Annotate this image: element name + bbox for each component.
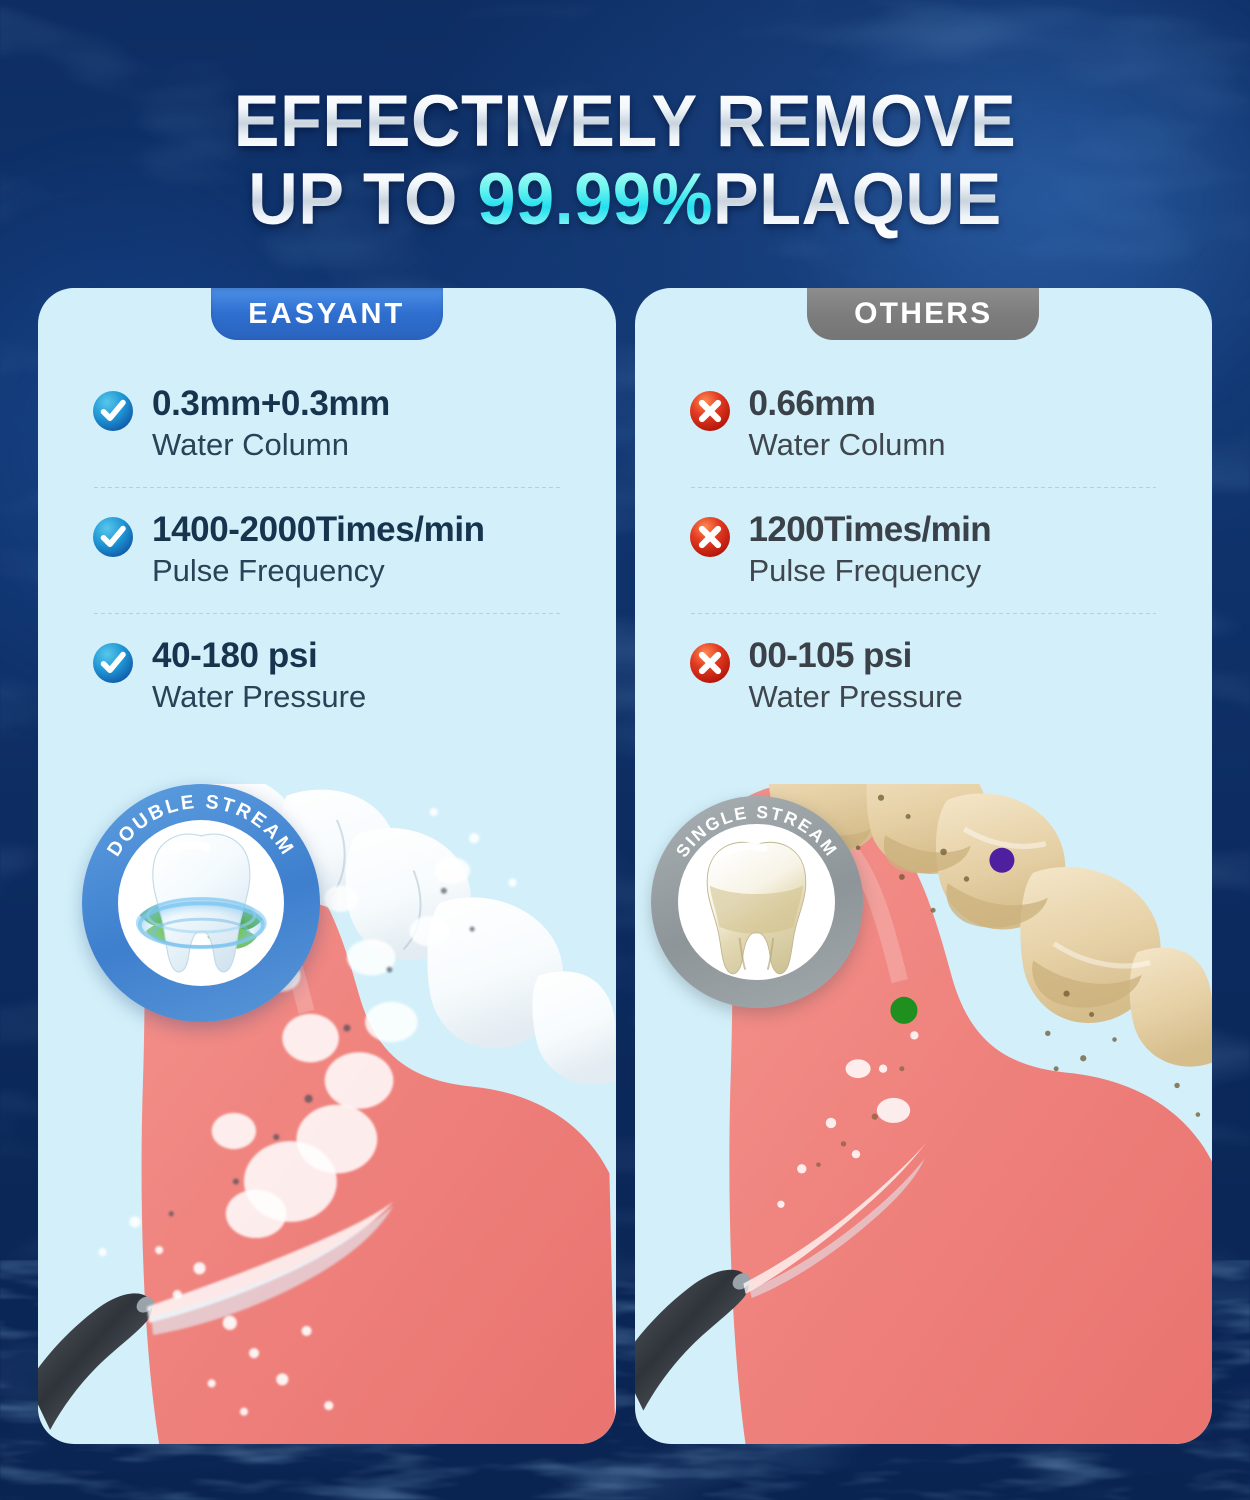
feature-value: 0.66mm — [749, 384, 1179, 424]
headline-percentage: 99.99% — [477, 159, 713, 240]
feature-row: 1400-2000Times/min Pulse Frequency — [72, 500, 582, 597]
feature-row: 40-180 psi Water Pressure — [72, 626, 582, 723]
svg-text:SINGLE STREAM: SINGLE STREAM — [671, 802, 841, 861]
headline-line-2: UP TO 99.99%PLAQUE — [38, 164, 1213, 236]
feature-value: 0.3mm+0.3mm — [152, 384, 582, 424]
feature-separator — [691, 487, 1157, 488]
comparison-card-easyant: EASYANT 0.3mm+0.3mm — [38, 288, 616, 1444]
brand-badge-others: OTHERS — [807, 288, 1039, 340]
feature-row: 00-105 psi Water Pressure — [669, 626, 1179, 723]
svg-text:DOUBLE STREAM: DOUBLE STREAM — [103, 791, 299, 860]
feature-separator — [691, 613, 1157, 614]
feature-row: 0.3mm+0.3mm Water Column — [72, 374, 582, 471]
headline-line-2-prefix: UP TO — [248, 159, 477, 240]
brand-badge-easyant: EASYANT — [211, 288, 443, 340]
emblem-caption-single: SINGLE STREAM — [651, 796, 863, 1008]
irrigator-nozzle — [38, 1293, 157, 1430]
headline-line-2-suffix: PLAQUE — [713, 159, 1002, 240]
emblem-double-stream: DOUBLE STREAM — [82, 784, 320, 1022]
feature-label: Water Pressure — [749, 677, 1179, 717]
check-icon — [92, 516, 134, 558]
comparison-card-others: OTHERS 0.66mm — [635, 288, 1213, 1444]
feature-value: 1200Times/min — [749, 510, 1179, 550]
feature-value: 40-180 psi — [152, 636, 582, 676]
feature-label: Water Column — [749, 425, 1179, 465]
comparison-cards: EASYANT 0.3mm+0.3mm — [38, 288, 1212, 1444]
check-icon — [92, 390, 134, 432]
emblem-caption-double: DOUBLE STREAM — [82, 784, 320, 1022]
cross-icon — [689, 642, 731, 684]
emblem-caption-text: SINGLE STREAM — [671, 802, 841, 861]
feature-value: 1400-2000Times/min — [152, 510, 582, 550]
feature-label: Water Column — [152, 425, 582, 465]
feature-separator — [94, 487, 560, 488]
cross-icon — [689, 516, 731, 558]
cross-icon — [689, 390, 731, 432]
check-icon — [92, 642, 134, 684]
feature-label: Water Pressure — [152, 677, 582, 717]
feature-separator — [94, 613, 560, 614]
feature-row: 1200Times/min Pulse Frequency — [669, 500, 1179, 597]
headline-line-1: EFFECTIVELY REMOVE — [38, 86, 1213, 158]
feature-list-others: 0.66mm Water Column 1200Times/min Pulse … — [635, 374, 1213, 724]
feature-row: 0.66mm Water Column — [669, 374, 1179, 471]
feature-label: Pulse Frequency — [749, 551, 1179, 591]
emblem-caption-text: DOUBLE STREAM — [103, 791, 299, 860]
brand-badge-label: OTHERS — [854, 297, 992, 331]
feature-list-easyant: 0.3mm+0.3mm Water Column 1400-2000Times/… — [38, 374, 616, 724]
feature-value: 00-105 psi — [749, 636, 1179, 676]
brand-badge-label: EASYANT — [248, 298, 405, 331]
emblem-single-stream: SINGLE STREAM — [651, 796, 863, 1008]
feature-label: Pulse Frequency — [152, 551, 582, 591]
headline: EFFECTIVELY REMOVE UP TO 99.99%PLAQUE — [0, 86, 1250, 235]
